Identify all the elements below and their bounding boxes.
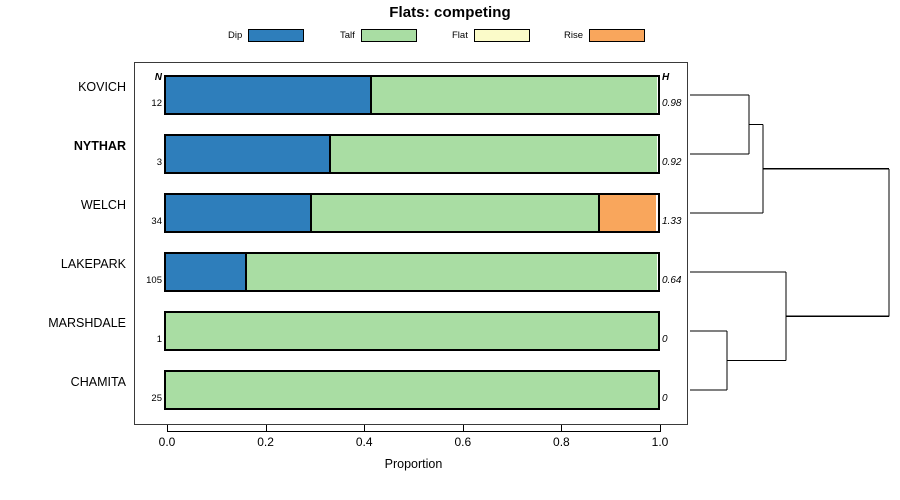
row-h-value: 0.92: [662, 157, 688, 168]
chart-canvas: Flats: competing DipTalfFlatRise N H KOV…: [0, 0, 900, 500]
legend-entry-talf[interactable]: Talf: [340, 27, 417, 43]
x-tick: [364, 425, 365, 432]
legend-entry-rise[interactable]: Rise: [564, 27, 645, 43]
x-tick: [167, 425, 168, 432]
chart-title: Flats: competing: [0, 4, 900, 21]
dendrogram: [688, 62, 900, 425]
row-label-chamita: CHAMITA: [0, 375, 126, 389]
bar-segment-dip: [166, 77, 371, 113]
row-n-value: 1: [134, 334, 162, 345]
legend: DipTalfFlatRise: [228, 27, 672, 43]
legend-label: Dip: [228, 30, 242, 41]
stacked-bar[interactable]: [164, 193, 660, 233]
x-axis-label: Proportion: [167, 457, 660, 471]
legend-entry-flat[interactable]: Flat: [452, 27, 530, 43]
row-n-value: 25: [134, 393, 162, 404]
row-label-nythar: NYTHAR: [0, 139, 126, 153]
x-tick-label: 0.8: [541, 435, 581, 449]
bar-segment-dip: [166, 254, 246, 290]
x-tick: [561, 425, 562, 432]
legend-swatch-dip: [248, 29, 304, 42]
legend-swatch-rise: [589, 29, 645, 42]
row-label-marshdale: MARSHDALE: [0, 316, 126, 330]
bar-segment-talf: [329, 136, 657, 172]
row-label-lakepark: LAKEPARK: [0, 257, 126, 271]
legend-swatch-flat: [474, 29, 530, 42]
row-h-value: 0.64: [662, 275, 688, 286]
stacked-bar[interactable]: [164, 134, 660, 174]
x-tick-label: 0.6: [443, 435, 483, 449]
bar-segment-dip: [166, 136, 330, 172]
legend-label: Talf: [340, 30, 355, 41]
row-label-kovich: KOVICH: [0, 80, 126, 94]
x-tick-label: 1.0: [640, 435, 680, 449]
legend-entry-dip[interactable]: Dip: [228, 27, 304, 43]
x-axis-line: [167, 431, 660, 432]
row-h-value: 0: [662, 334, 688, 345]
row-n-value: 105: [134, 275, 162, 286]
row-h-value: 1.33: [662, 216, 688, 227]
stacked-bar[interactable]: [164, 311, 660, 351]
x-tick-label: 0.0: [147, 435, 187, 449]
stacked-bar[interactable]: [164, 75, 660, 115]
bar-segment-talf: [245, 254, 657, 290]
x-tick-label: 0.4: [344, 435, 384, 449]
x-axis: 0.00.20.40.60.81.0 Proportion: [0, 425, 900, 485]
x-tick: [463, 425, 464, 432]
bar-segment-talf: [166, 313, 658, 349]
bar-segment-talf: [370, 77, 657, 113]
bar-segment-talf: [310, 195, 599, 231]
row-h-value: 0: [662, 393, 688, 404]
bar-segment-dip: [166, 195, 311, 231]
bar-segment-talf: [166, 372, 658, 408]
row-n-value: 3: [134, 157, 162, 168]
x-tick: [266, 425, 267, 432]
row-n-value: 12: [134, 98, 162, 109]
stacked-bar[interactable]: [164, 370, 660, 410]
bar-segment-rise: [598, 195, 656, 231]
row-n-value: 34: [134, 216, 162, 227]
row-h-value: 0.98: [662, 98, 688, 109]
x-tick: [660, 425, 661, 432]
legend-swatch-talf: [361, 29, 417, 42]
x-tick-label: 0.2: [246, 435, 286, 449]
legend-label: Flat: [452, 30, 468, 41]
row-label-welch: WELCH: [0, 198, 126, 212]
legend-label: Rise: [564, 30, 583, 41]
stacked-bar[interactable]: [164, 252, 660, 292]
